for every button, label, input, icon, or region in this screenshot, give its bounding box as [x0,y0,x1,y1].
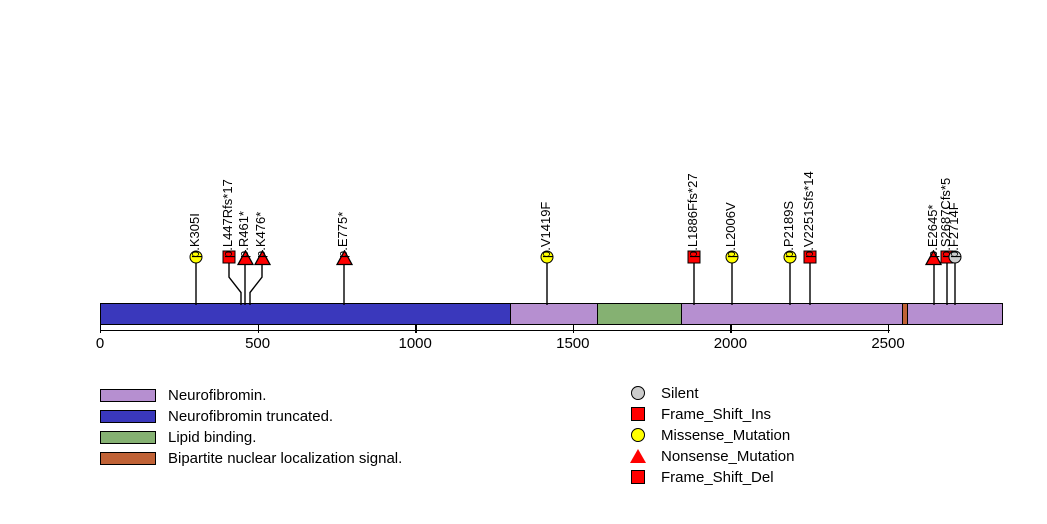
mutation-legend-item: Silent [625,383,794,403]
square-icon [631,470,645,484]
axis-tick-label: 1000 [399,335,432,352]
axis-tick [100,325,101,333]
legend-color-swatch [100,431,156,444]
mutation-label: p.L2006V [724,202,737,258]
domain-legend-item: Neurofibromin truncated. [100,406,402,426]
mutation-label: p.F2714F [947,202,960,258]
legend-symbol [625,449,651,463]
mutation-legend-item: Frame_Shift_Ins [625,404,794,424]
mutation-stem [943,257,951,305]
legend-label: Neurofibromin truncated. [168,408,333,425]
axis-tick [415,325,416,333]
axis-tick [888,325,889,333]
mutation-stem [786,257,794,305]
mutation-stem [690,257,698,305]
legend-symbol [625,428,651,442]
mutation-label: p.L447Rfs*17 [221,179,234,258]
mutation-label: p.R461* [237,211,250,258]
mutation-stem [543,257,551,305]
mutation-legend-item: Frame_Shift_Del [625,467,794,487]
circle-icon [631,428,645,442]
lollipop-plot: p.K305Ip.L447Rfs*17p.R461*p.K476*p.E775*… [0,0,1047,524]
square-icon [631,407,645,421]
axis-tick [573,325,574,333]
legend-label: Neurofibromin. [168,387,266,404]
mutation-label: p.K305I [188,213,201,258]
domain-region [100,304,511,323]
legend-label: Nonsense_Mutation [661,448,794,465]
domain-legend-item: Lipid binding. [100,427,402,447]
triangle-icon [630,449,646,463]
legend-label: Lipid binding. [168,429,256,446]
domain-region [597,304,681,323]
domain-legend-item: Neurofibromin. [100,385,402,405]
mutation-label: p.K476* [254,212,267,258]
legend-label: Frame_Shift_Ins [661,406,771,423]
mutation-stem [806,257,814,305]
legend-symbol [625,386,651,400]
mutation-legend-item: Missense_Mutation [625,425,794,445]
legend-symbol [625,407,651,421]
axis-tick [730,325,731,333]
mutation-label: p.V2251Sfs*14 [802,171,815,258]
axis-baseline [100,330,890,331]
axis-tick-label: 2500 [871,335,904,352]
mutation-label: p.E2645* [926,205,939,259]
legend-symbol [625,470,651,484]
legend-label: Frame_Shift_Del [661,469,774,486]
legend-color-swatch [100,389,156,402]
domain-region [902,304,908,323]
axis-tick-label: 0 [96,335,104,352]
legend-color-swatch [100,452,156,465]
mutation-label: p.L1886Ffs*27 [686,173,699,258]
mutation-stem [951,257,959,305]
mutation-label: p.P2189S [782,201,795,258]
mutation-type-legend: SilentFrame_Shift_InsMissense_MutationNo… [625,383,794,488]
mutation-label: p.V1419F [539,202,552,258]
domain-legend-item: Bipartite nuclear localization signal. [100,448,402,468]
mutation-legend-item: Nonsense_Mutation [625,446,794,466]
axis-tick [258,325,259,333]
axis-tick-label: 2000 [714,335,747,352]
legend-label: Silent [661,385,699,402]
axis-tick-label: 1500 [556,335,589,352]
mutation-label: p.E775* [336,212,349,258]
mutation-stem [728,257,736,305]
circle-icon [631,386,645,400]
legend-label: Bipartite nuclear localization signal. [168,450,402,467]
legend-label: Missense_Mutation [661,427,790,444]
domain-legend: Neurofibromin.Neurofibromin truncated.Li… [100,385,402,469]
legend-color-swatch [100,410,156,423]
mutation-stem [192,257,200,305]
axis-tick-label: 500 [245,335,270,352]
